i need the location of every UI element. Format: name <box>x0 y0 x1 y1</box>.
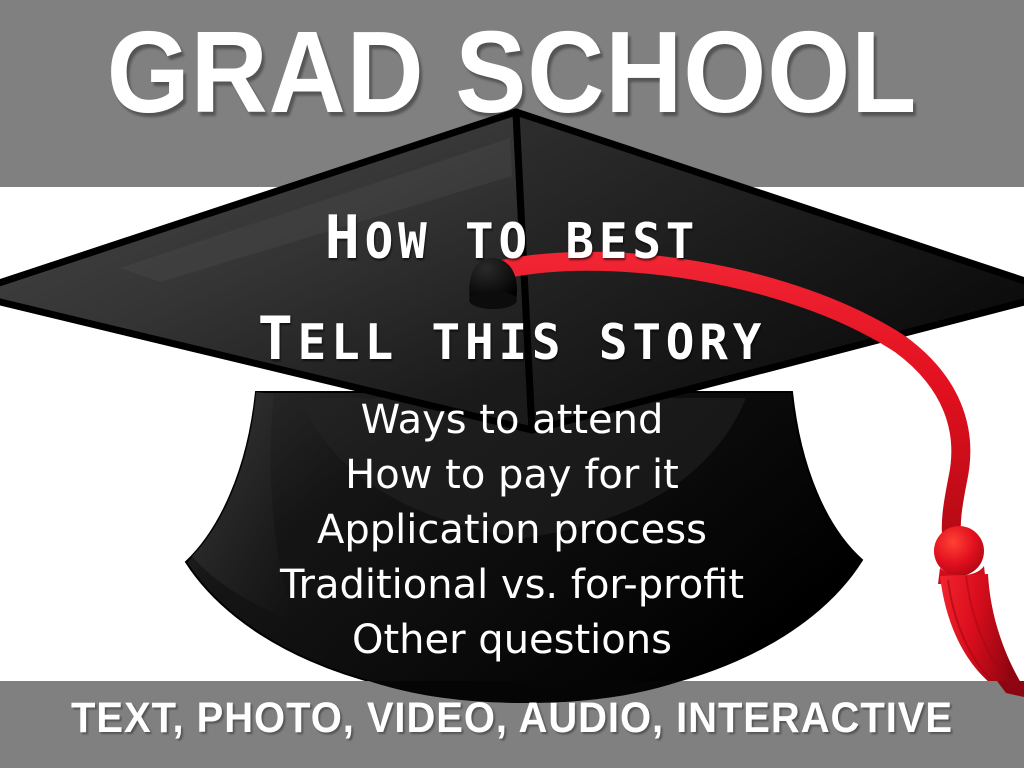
list-item: Traditional vs. for-profit <box>0 558 1024 613</box>
headline-small-caps: ELL THIS STORY <box>298 314 767 371</box>
bullet-list: Ways to attend How to pay for it Applica… <box>0 393 1024 668</box>
list-item: Ways to attend <box>0 393 1024 448</box>
footer-caption: TEXT, PHOTO, VIDEO, AUDIO, INTERACTIVE <box>36 694 988 742</box>
slide-canvas: GRAD SCHOOL HOW TO BEST TELL THIS STORY … <box>0 0 1024 768</box>
list-item: Other questions <box>0 613 1024 668</box>
list-item: How to pay for it <box>0 448 1024 503</box>
headline-line-1: HOW TO BEST <box>15 212 1008 268</box>
page-title: GRAD SCHOOL <box>41 14 983 130</box>
list-item: Application process <box>0 503 1024 558</box>
headline-initial-glyph: T <box>258 304 298 374</box>
headline-small-caps: OW TO BEST <box>365 213 700 270</box>
headline-initial-glyph: H <box>325 203 365 273</box>
headline-line-2: TELL THIS STORY <box>15 313 1008 369</box>
